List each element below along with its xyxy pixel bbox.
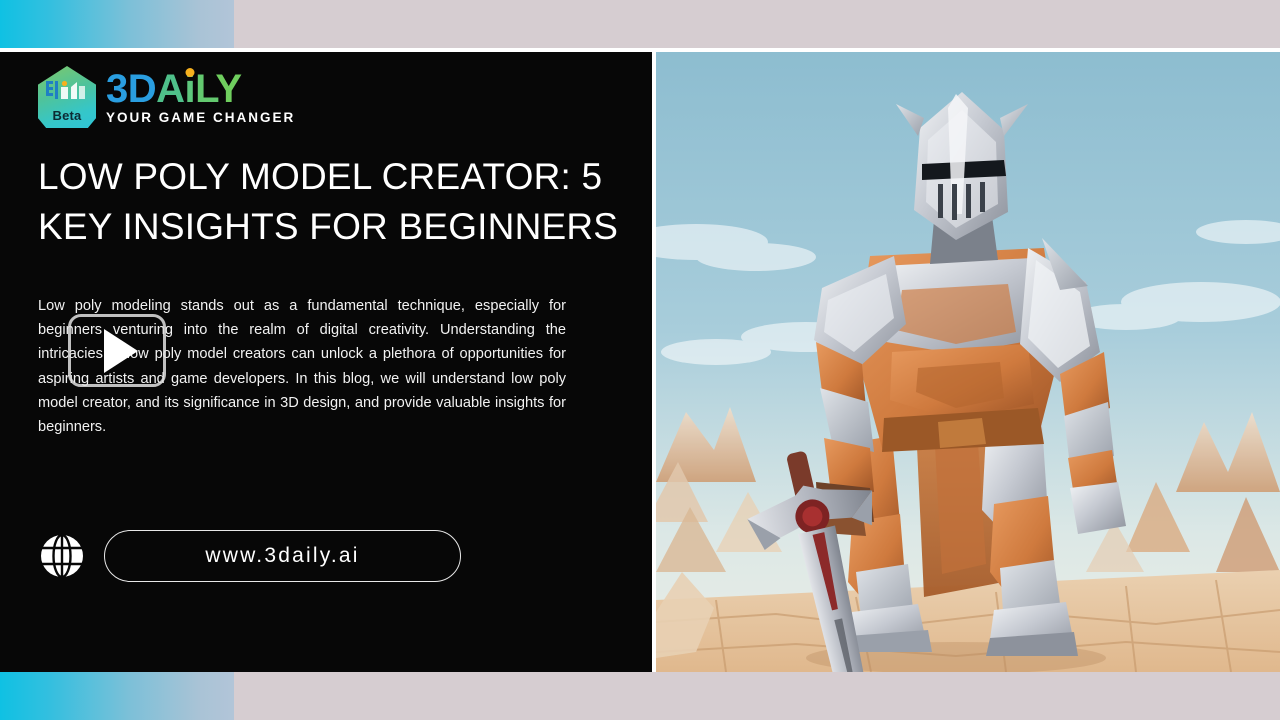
content-panel: Beta 3DAiLY YOUR GAME CHANGER LOW POLY M… xyxy=(0,52,652,672)
wordmark-a: A xyxy=(156,67,184,111)
page-title: LOW POLY MODEL CREATOR: 5 KEY INSIGHTS F… xyxy=(38,152,653,253)
play-triangle-icon xyxy=(104,329,138,373)
brand-tagline: YOUR GAME CHANGER xyxy=(106,110,295,125)
bottom-accent-gradient-band xyxy=(0,672,234,720)
wordmark-y: Y xyxy=(215,67,241,111)
top-accent-gradient-band xyxy=(0,0,234,48)
beta-badge: Beta xyxy=(38,108,96,123)
brand-wordmark-group: 3DAiLY YOUR GAME CHANGER xyxy=(106,69,295,125)
wordmark-i: i xyxy=(185,67,196,111)
slide-canvas: Beta 3DAiLY YOUR GAME CHANGER LOW POLY M… xyxy=(0,0,1280,720)
brand-logo[interactable]: Beta 3DAiLY YOUR GAME CHANGER xyxy=(38,66,295,128)
website-url-label: www.3daily.ai xyxy=(205,544,359,568)
wordmark-3d: 3D xyxy=(106,67,156,111)
website-url-button[interactable]: www.3daily.ai xyxy=(104,530,461,582)
3daily-house-logo-icon: Beta xyxy=(38,66,96,128)
globe-icon xyxy=(38,532,86,580)
wordmark-l: L xyxy=(195,67,215,111)
website-row: www.3daily.ai xyxy=(38,530,461,582)
play-button[interactable] xyxy=(68,314,166,387)
wordmark-i-dot-icon xyxy=(185,68,194,77)
house-inner-glyphs xyxy=(44,78,90,104)
hero-image xyxy=(656,52,1280,672)
brand-wordmark: 3DAiLY xyxy=(106,69,295,109)
